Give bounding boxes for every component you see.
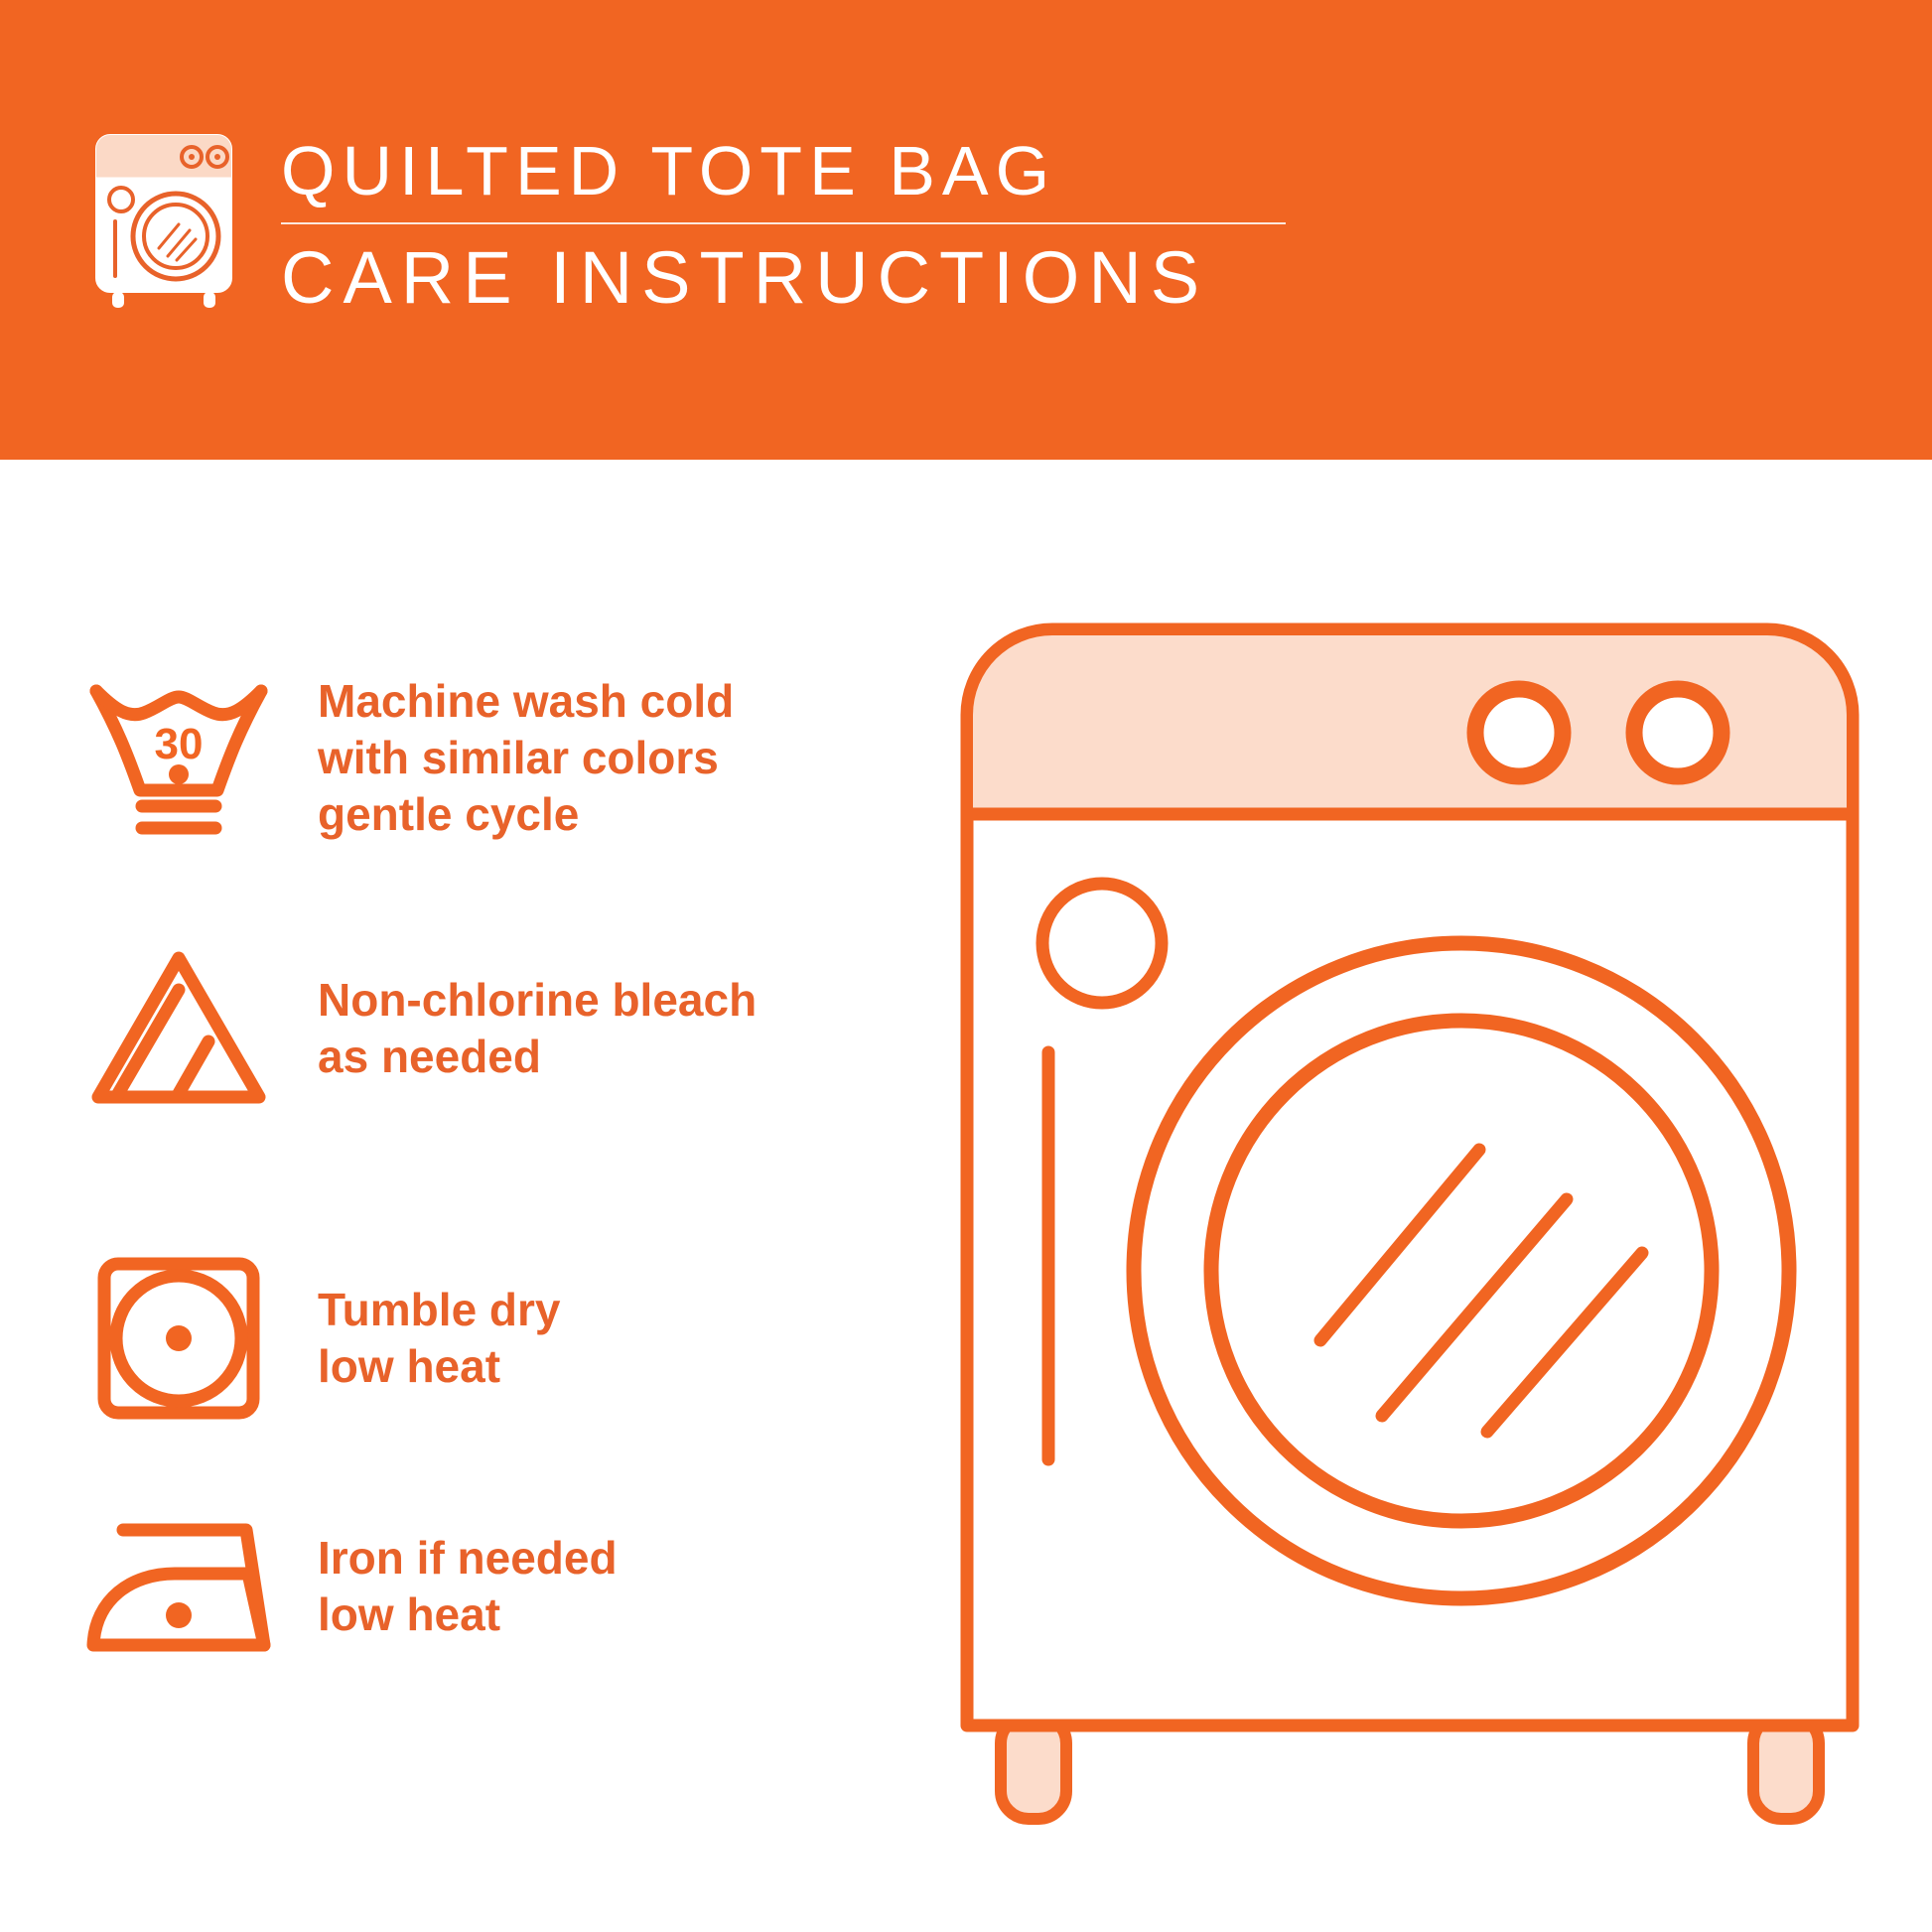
care-text-line-2: low heat [318, 1338, 561, 1395]
care-text-line-1: Iron if needed [318, 1530, 618, 1587]
machine-knob-right [1634, 689, 1722, 776]
header-banner: QUILTED TOTE BAG CARE INSTRUCTIONS [0, 0, 1932, 460]
care-item-machine-wash: 30 Machine wash cold with similar colors… [0, 673, 933, 843]
care-item-bleach: Non-chlorine bleach as needed [0, 946, 933, 1110]
page-title-subtitle: CARE INSTRUCTIONS [281, 234, 1286, 322]
care-text-line-2: with similar colors [318, 730, 734, 786]
care-text-line-1: Non-chlorine bleach [318, 972, 757, 1029]
care-text-line-3: gentle cycle [318, 786, 734, 843]
machine-knob-left [1475, 689, 1563, 776]
care-item-iron-label: Iron if needed low heat [318, 1530, 618, 1643]
care-item-tumble-dry: Tumble dry low heat [0, 1254, 933, 1423]
wash-temperature-label: 30 [155, 720, 204, 768]
care-text-line-2: low heat [318, 1587, 618, 1643]
care-text-line-1: Machine wash cold [318, 673, 734, 730]
page-title-product: QUILTED TOTE BAG [281, 129, 1286, 212]
washing-machine-icon [84, 127, 243, 311]
care-text-line-2: as needed [318, 1029, 757, 1085]
care-item-bleach-label: Non-chlorine bleach as needed [318, 972, 757, 1085]
header-content: QUILTED TOTE BAG CARE INSTRUCTIONS [84, 127, 1286, 322]
wash-tub-30-one-dot-icon: 30 [69, 679, 288, 838]
title-divider [281, 222, 1286, 224]
tumble-dry-low-heat-icon [69, 1254, 288, 1423]
care-text-line-1: Tumble dry [318, 1282, 561, 1338]
care-item-tumble-dry-label: Tumble dry low heat [318, 1282, 561, 1395]
non-chlorine-bleach-triangle-icon [69, 946, 288, 1110]
front-load-washing-machine-illustration [953, 616, 1876, 1837]
care-item-iron: Iron if needed low heat [0, 1512, 933, 1661]
care-instruction-list: 30 Machine wash cold with similar colors… [0, 460, 953, 1932]
header-title-block: QUILTED TOTE BAG CARE INSTRUCTIONS [281, 127, 1286, 322]
iron-low-heat-icon [69, 1512, 288, 1661]
care-item-machine-wash-label: Machine wash cold with similar colors ge… [318, 673, 734, 843]
